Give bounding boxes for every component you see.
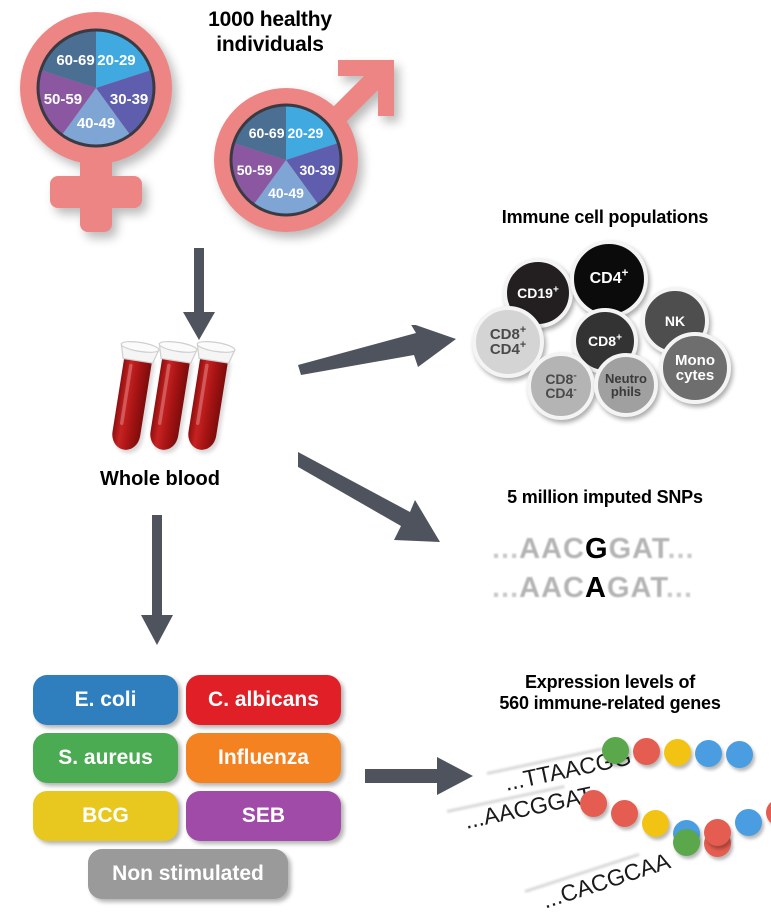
cell-cd19-positive-label: CD19+ <box>517 286 559 300</box>
snp-right-bases: GAT <box>609 533 668 565</box>
stim-non-stimulated-label: Non stimulated <box>112 862 264 886</box>
age-slice-label-50-59: 50-59 <box>237 162 273 178</box>
cell-monocytes-label-line: Mono <box>675 353 715 368</box>
snp-suffix-dots: ... <box>667 533 694 565</box>
cell-nk-label: NK <box>665 314 685 328</box>
cell-cd8pos-cd4pos-label-line: CD4+ <box>490 342 526 357</box>
arrow-blood-to-stimulation <box>140 515 176 645</box>
snp-variant-base: G <box>585 533 609 565</box>
arrow-blood-to-stimulation-shape <box>141 515 173 645</box>
arrow-stimulation-to-expression-shape <box>365 757 473 795</box>
dna-bead-yellow <box>642 810 669 837</box>
dna-bead-red <box>611 800 638 827</box>
stim-seb-label: SEB <box>242 804 285 828</box>
female-symbol: 20-2930-3940-4950-5960-69 <box>8 8 198 238</box>
cell-cd4-positive[interactable]: CD4+ <box>570 240 648 318</box>
snp-variant-base: A <box>585 572 607 604</box>
whole-blood-label: Whole blood <box>70 468 250 491</box>
stim-c-albicans-label: C. albicans <box>208 688 319 712</box>
age-slice-label-30-39: 30-39 <box>299 162 335 178</box>
dna-bead-green <box>673 829 700 856</box>
cell-cd8neg-cd4neg-label: CD8-CD4- <box>545 372 576 401</box>
stim-e-coli-label: E. coli <box>75 688 137 712</box>
arrow-cohort-to-blood <box>181 248 217 340</box>
arrow-blood-to-immune-shape <box>298 325 456 375</box>
dna-sequence-text: ...CACGCAA <box>539 848 674 915</box>
immune-title: Immune cell populations <box>455 207 755 228</box>
cell-neutrophils-label-line: Neutro <box>605 372 647 385</box>
stim-bcg[interactable]: BCG <box>33 791 178 841</box>
cell-cd8neg-cd4neg-label-line: CD4- <box>545 386 576 400</box>
age-slice-label-40-49: 40-49 <box>77 115 115 132</box>
cell-nk-label-line: NK <box>665 314 685 328</box>
male-age-pie: 20-2930-3940-4950-5960-69 <box>231 105 341 215</box>
cell-cd8neg-cd4neg[interactable]: CD8-CD4- <box>527 352 595 420</box>
cell-cd8pos-cd4pos-label: CD8+CD4+ <box>490 327 526 358</box>
whole-blood-tubes <box>100 338 260 468</box>
arrow-stimulation-to-expression <box>365 755 477 797</box>
cell-cd4-positive-label: CD4+ <box>590 271 629 287</box>
age-slice-label-20-29: 20-29 <box>97 52 135 69</box>
stim-c-albicans[interactable]: C. albicans <box>186 675 341 725</box>
snp-left-bases: AAC <box>519 533 585 565</box>
age-slice-label-60-69: 60-69 <box>56 52 94 69</box>
stim-non-stimulated[interactable]: Non stimulated <box>88 849 288 899</box>
male-symbol: 20-2930-3940-4950-5960-69 <box>208 48 408 248</box>
cell-cd4-positive-label-line: CD4+ <box>590 271 629 287</box>
age-slice-label-20-29: 20-29 <box>287 125 323 141</box>
cell-monocytes-label: Monocytes <box>675 353 715 384</box>
age-slice-label-50-59: 50-59 <box>44 91 82 108</box>
arrow-cohort-to-blood-shape <box>183 248 215 340</box>
dna-bead-red <box>633 738 660 765</box>
snp-prefix-dots: ... <box>492 572 519 604</box>
snp-suffix-dots: ... <box>666 572 693 604</box>
stim-influenza[interactable]: Influenza <box>186 733 341 783</box>
snp-sequence-row: ...AACGGAT... <box>492 533 695 566</box>
expression-title-line-1: Expression levels of <box>455 672 765 693</box>
cell-monocytes[interactable]: Monocytes <box>659 332 731 404</box>
snps-title: 5 million imputed SNPs <box>455 487 755 508</box>
stim-s-aureus-label: S. aureus <box>58 746 153 770</box>
cell-cd8-positive-label: CD8+ <box>588 334 622 348</box>
cell-monocytes-label-line: cytes <box>675 368 715 383</box>
expression-title-line-2: 560 immune-related genes <box>455 693 765 714</box>
diagram-canvas: 1000 healthyindividualsImmune cell popul… <box>0 0 771 922</box>
dna-bead-red <box>704 819 731 846</box>
cell-cd8-positive-label-line: CD8+ <box>588 334 622 348</box>
stim-bcg-label: BCG <box>82 804 129 828</box>
cell-cd8neg-cd4neg-label-line: CD8- <box>545 372 576 386</box>
dna-bead-red <box>580 790 607 817</box>
snp-prefix-dots: ... <box>492 533 519 565</box>
arrow-blood-to-snps <box>298 450 448 550</box>
dna-bead-blue <box>726 741 753 768</box>
snp-sequence-row: ...AACAGAT... <box>492 572 693 605</box>
arrow-blood-to-immune <box>298 325 458 377</box>
dna-bead-blue <box>735 809 762 836</box>
age-slice-label-30-39: 30-39 <box>110 91 148 108</box>
age-slice-label-60-69: 60-69 <box>249 125 285 141</box>
dna-bead-red <box>766 799 771 826</box>
cell-cd19-positive-label-line: CD19+ <box>517 286 559 300</box>
snp-left-bases: AAC <box>519 572 585 604</box>
stim-s-aureus[interactable]: S. aureus <box>33 733 178 783</box>
age-slice-label-40-49: 40-49 <box>268 185 304 201</box>
stim-influenza-label: Influenza <box>218 746 309 770</box>
dna-bead-yellow <box>664 739 691 766</box>
female-age-pie: 20-2930-3940-4950-5960-69 <box>38 30 154 146</box>
arrow-blood-to-snps-shape <box>298 452 440 542</box>
snp-right-bases: GAT <box>607 572 666 604</box>
cell-neutrophils-label: Neutrophils <box>605 372 647 399</box>
dna-bead-green <box>602 737 629 764</box>
immune-title-line-1: Immune cell populations <box>455 207 755 228</box>
cell-neutrophils[interactable]: Neutrophils <box>594 353 658 417</box>
stim-e-coli[interactable]: E. coli <box>33 675 178 725</box>
expression-title: Expression levels of560 immune-related g… <box>455 672 765 714</box>
cell-neutrophils-label-line: phils <box>605 385 647 398</box>
snps-title-line-1: 5 million imputed SNPs <box>455 487 755 508</box>
dna-bead-blue <box>695 740 722 767</box>
stim-seb[interactable]: SEB <box>186 791 341 841</box>
